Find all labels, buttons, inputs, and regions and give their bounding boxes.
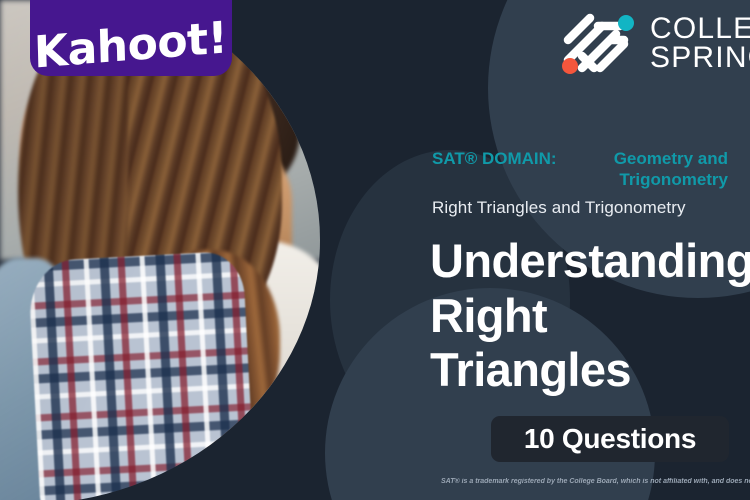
page-title-line-3: Triangles bbox=[430, 343, 750, 398]
college-spring-logo-line1: COLLEGE bbox=[650, 14, 750, 43]
page-title-line-2: Right bbox=[430, 289, 750, 344]
kahoot-logo-wordmark: Kahoot! bbox=[34, 16, 228, 75]
logo-dot-teal bbox=[618, 15, 634, 31]
page-title: Understanding Right Triangles bbox=[430, 234, 750, 398]
question-count-label: 10 Questions bbox=[524, 423, 696, 455]
kahoot-quiz-cover-slide: Kahoot! COLLEGE SPRING SAT® DOMAIN: Geom… bbox=[0, 0, 750, 500]
college-spring-logo-text: COLLEGE SPRING bbox=[650, 14, 750, 73]
logo-dot-red bbox=[562, 58, 578, 74]
topic-subtitle: Right Triangles and Trigonometry bbox=[432, 198, 732, 218]
college-spring-logo-mark bbox=[560, 10, 636, 76]
college-spring-logo-line2: SPRING bbox=[650, 43, 750, 72]
kahoot-logo-badge: Kahoot! bbox=[30, 0, 232, 76]
question-count-badge: 10 Questions bbox=[491, 416, 729, 462]
college-spring-logo: COLLEGE SPRING bbox=[560, 10, 750, 76]
sat-domain-value: Geometry and Trigonometry bbox=[614, 149, 728, 189]
sat-domain-line: SAT® DOMAIN: Geometry and Trigonometry bbox=[432, 148, 728, 191]
sat-domain-label: SAT® DOMAIN: bbox=[432, 148, 557, 169]
trademark-disclaimer: SAT® is a trademark registered by the Co… bbox=[441, 478, 750, 485]
page-title-line-1: Understanding bbox=[430, 234, 750, 289]
